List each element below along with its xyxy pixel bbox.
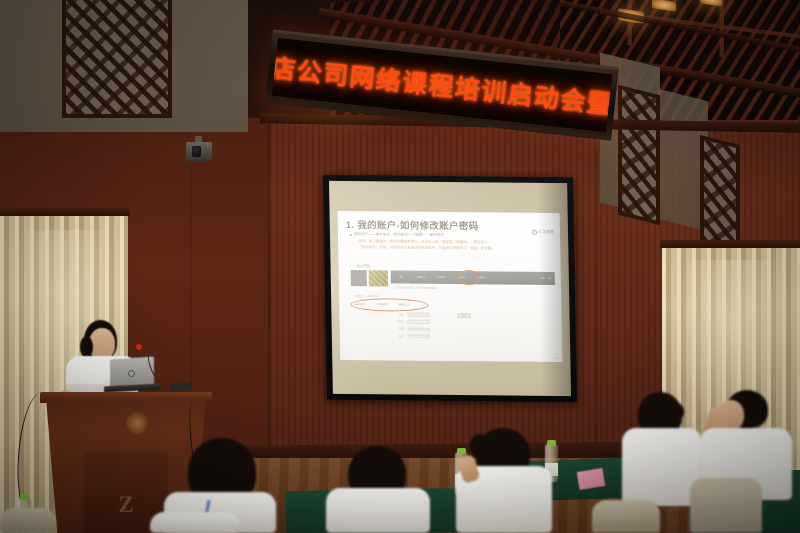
conference-room-photo: 1. 我的账户-如何修改账户密码 凡之学院 我的账户——基本信息、党的统点——编… (0, 0, 800, 533)
podium-logo: Z (112, 492, 140, 518)
bullet-dot-icon (350, 234, 352, 236)
embedded-form-label-2: 邮箱 (392, 327, 404, 331)
wall-seam-2 (596, 150, 598, 450)
embedded-nav-item-1[interactable]: 课程中心 (414, 276, 429, 279)
embedded-save-button[interactable]: 保存 (457, 313, 470, 318)
embedded-form-label-0: 姓名 (391, 312, 403, 316)
presenter-hair-bun (80, 336, 93, 358)
embedded-form-label-3: 部门 (392, 334, 404, 338)
embedded-login-link[interactable]: 登录 (540, 277, 544, 280)
lattice-screen-right-1 (618, 85, 660, 225)
microphone-head-icon (136, 344, 142, 350)
chair-2 (592, 500, 660, 533)
projection-screen[interactable]: 1. 我的账户-如何修改账户密码 凡之学院 我的账户——基本信息、党的统点——编… (323, 175, 577, 402)
embedded-thumbnail-image (369, 270, 388, 286)
embedded-nav-right: 登录 注册 (540, 277, 551, 280)
embedded-nav-item-0[interactable]: 首页 (394, 275, 409, 278)
chair-1 (690, 478, 762, 533)
embedded-nav-label-4: 我的账户 (474, 276, 489, 279)
embedded-nav-item-3[interactable]: 考试中心 (454, 276, 469, 279)
audience-2-shirt (326, 488, 430, 533)
laptop-brand-icon (128, 370, 135, 377)
chair-3 (0, 508, 56, 533)
water-bottle-cap-3 (20, 494, 29, 500)
embedded-nav-item-2[interactable]: 学习地图 (434, 276, 449, 279)
embedded-register-link[interactable]: 注册 (548, 277, 552, 280)
podium-emblem-icon (126, 412, 148, 434)
lattice-screen-left (62, 0, 172, 118)
slide-note-line-2: 「我是学位」页面，切换后进行查阅进度学员操作，只能进行课程学习、测试、考试等。 (358, 244, 550, 252)
screen-letterbox-border: 1. 我的账户-如何修改账户密码 凡之学院 我的账户——基本信息、党的统点——编… (329, 181, 571, 396)
presentation-slide: 1. 我的账户-如何修改账户密码 凡之学院 我的账户——基本信息、党的统点——编… (338, 211, 563, 362)
slide-note-block: 说明：部门需要统一帐号并基本重导位，点击右上角「我里要「配置修」，即可进入 「我… (358, 238, 550, 252)
slide-bullet-text: 我的账户——基本信息、党的统点——编辑——保存即可 (354, 232, 444, 238)
embedded-form-input-2[interactable] (408, 327, 430, 331)
embedded-nav-label-3: 考试中心 (454, 276, 469, 279)
embedded-nav-label-1: 课程中心 (414, 276, 429, 279)
embedded-form-row-2: 邮箱 (392, 327, 430, 331)
embedded-nav-label-0: 首页 (394, 275, 409, 278)
embedded-tab-0[interactable]: 基本信息 (355, 302, 366, 306)
embedded-form-input-1[interactable] (408, 320, 430, 324)
embedded-site-logo: 凡之学院 (357, 263, 371, 268)
camera-lens-icon (192, 146, 201, 157)
curtain-rail-right (660, 240, 800, 248)
embedded-nav-item-4[interactable]: 我的账户 (474, 276, 489, 279)
embedded-tabs: 基本信息 修改密码 我的证书 (355, 302, 409, 307)
embedded-form: 姓名 手机号 邮箱 部门 (391, 312, 430, 341)
embedded-navbar: 首页 课程中心 学习地图 考试中心 (391, 270, 555, 285)
audience-6-shirt (150, 512, 240, 533)
curtain-rail-left (0, 208, 130, 216)
embedded-footer: 凡之学院 (550, 357, 558, 360)
water-bottle-cap-1 (457, 448, 466, 454)
embedded-form-input-0[interactable] (407, 313, 429, 317)
embedded-caption: 为了保障您的账号安全，请及时修改初始密码 (393, 285, 437, 289)
water-bottle-cap-2 (547, 440, 556, 446)
audience-4-bun (666, 402, 684, 422)
embedded-form-row-3: 部门 (392, 334, 430, 338)
audience-3-bun (470, 434, 490, 456)
embedded-form-row-1: 手机号 (392, 320, 430, 324)
embedded-nav-label-2: 学习地图 (434, 276, 449, 279)
wall-seam-1 (268, 120, 270, 450)
embedded-form-row-0: 姓名 (391, 312, 429, 316)
embedded-tab-2[interactable]: 我的证书 (399, 303, 410, 307)
slide-title: 1. 我的账户-如何修改账户密码 (346, 217, 479, 232)
embedded-tab-1[interactable]: 修改密码 (377, 302, 388, 306)
embedded-form-label-1: 手机号 (392, 320, 404, 324)
embedded-breadcrumb: 我的账户 > 基本信息 (355, 294, 379, 298)
embedded-form-input-3[interactable] (408, 334, 430, 338)
embedded-thumbnail-placeholder (351, 270, 367, 286)
